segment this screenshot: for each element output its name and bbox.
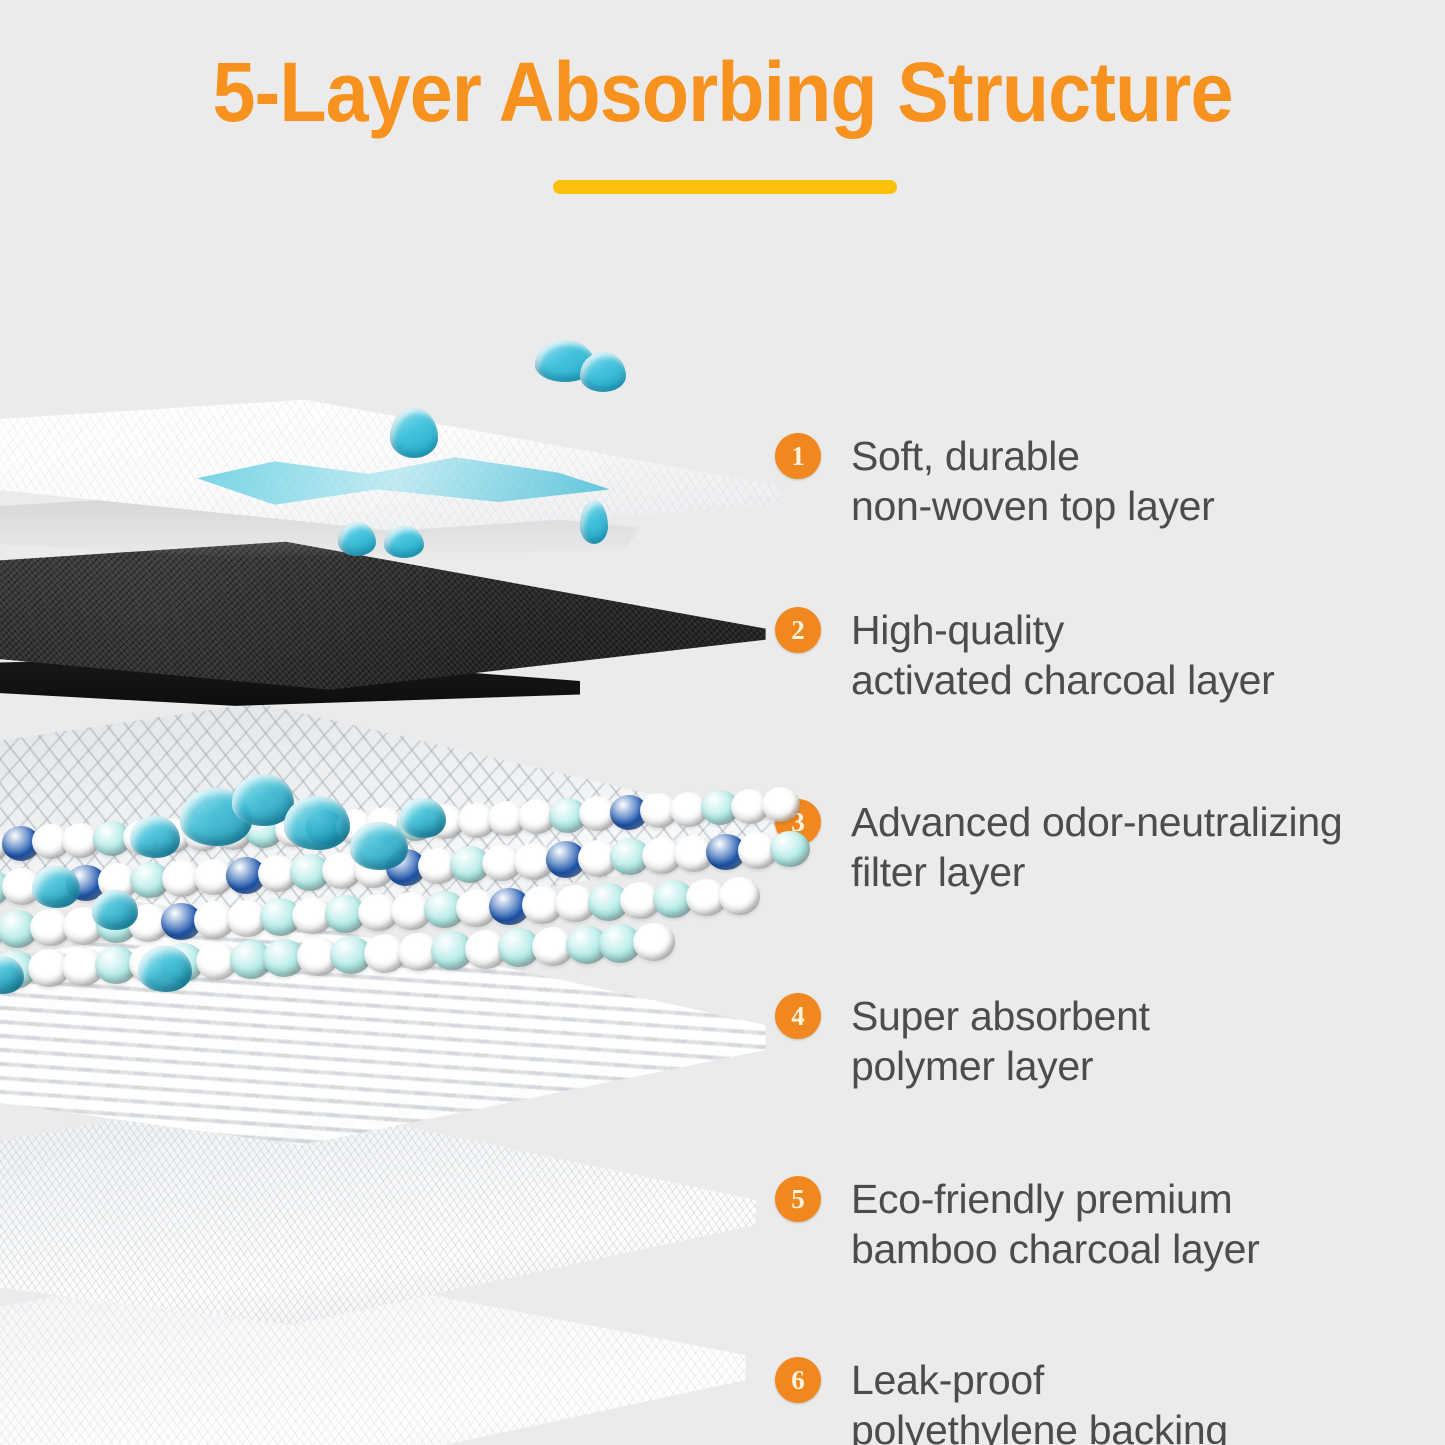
callout-badge-2: 2 — [775, 607, 821, 653]
callout-label-5: Eco-friendly premium bamboo charcoal lay… — [851, 1174, 1260, 1274]
water-droplet — [390, 408, 438, 458]
page-title: 5-Layer Absorbing Structure — [58, 48, 1387, 136]
callout-item-3[interactable]: 3 Advanced odor-neutralizing filter laye… — [775, 797, 1342, 897]
callout-item-5[interactable]: 5 Eco-friendly premium bamboo charcoal l… — [775, 1174, 1260, 1274]
callout-badge-5: 5 — [775, 1176, 821, 1222]
callout-badge-6: 6 — [775, 1357, 821, 1403]
water-droplet — [580, 352, 626, 392]
gel-droplet — [130, 816, 180, 858]
gel-droplet — [350, 822, 408, 870]
gel-droplet — [32, 866, 80, 908]
polymer-bead-cluster — [0, 770, 780, 1000]
layer-stack-illustration — [0, 300, 860, 1445]
callout-item-1[interactable]: 1 Soft, durable non-woven top layer — [775, 431, 1215, 531]
polymer-bead — [633, 923, 675, 962]
gel-droplet — [138, 946, 192, 992]
gel-droplet — [92, 890, 138, 930]
callout-item-6[interactable]: 6 Leak-proof polyethylene backing — [775, 1355, 1228, 1445]
callout-label-3: Advanced odor-neutralizing filter layer — [851, 797, 1342, 897]
callout-badge-4: 4 — [775, 993, 821, 1039]
callout-item-2[interactable]: 2 High-quality activated charcoal layer — [775, 605, 1275, 705]
polymer-bead — [719, 877, 760, 915]
callout-label-4: Super absorbent polymer layer — [851, 991, 1150, 1091]
gel-droplet — [284, 796, 350, 850]
callout-label-2: High-quality activated charcoal layer — [851, 605, 1275, 705]
polymer-bead — [762, 787, 800, 822]
callout-item-4[interactable]: 4 Super absorbent polymer layer — [775, 991, 1150, 1091]
callout-badge-1: 1 — [775, 433, 821, 479]
gel-droplet — [400, 798, 446, 838]
infographic-canvas: 5-Layer Absorbing Structure — [0, 0, 1445, 1445]
water-droplet — [384, 526, 424, 558]
water-droplet — [580, 500, 608, 544]
title-underline-rule — [553, 180, 897, 194]
water-droplet — [338, 522, 376, 556]
callout-label-6: Leak-proof polyethylene backing — [851, 1355, 1228, 1445]
callout-label-1: Soft, durable non-woven top layer — [851, 431, 1215, 531]
polymer-bead — [770, 831, 810, 868]
